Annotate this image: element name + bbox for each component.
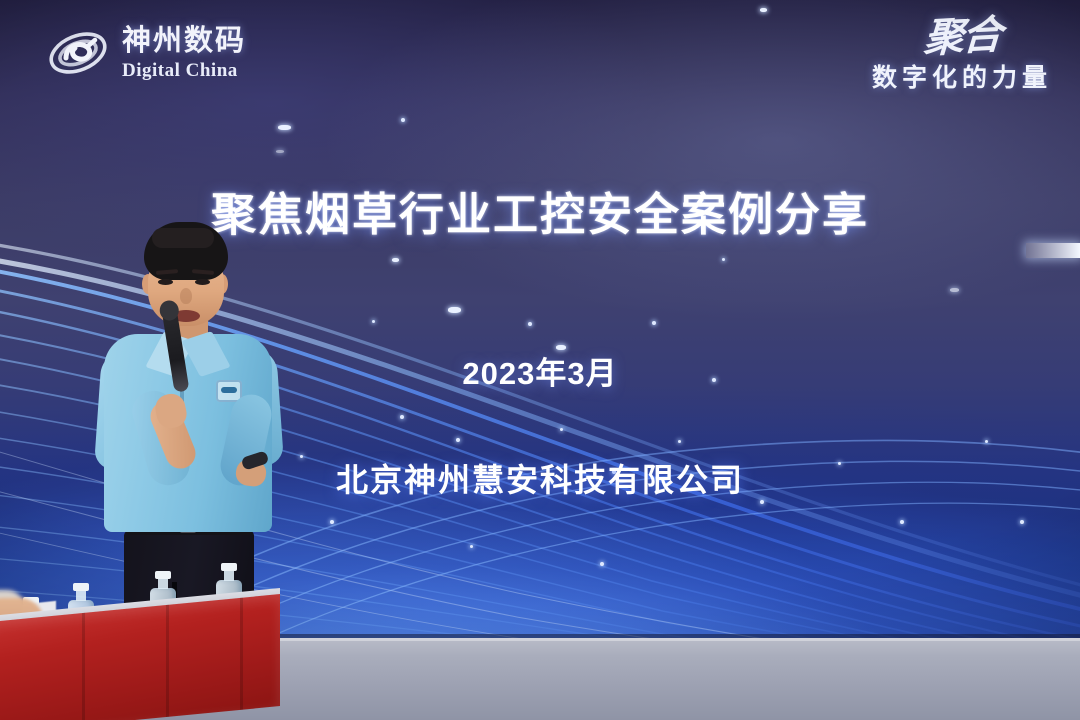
foreground-table <box>0 570 270 720</box>
speaker-left-eye <box>158 279 173 285</box>
speaker-nose <box>180 288 192 304</box>
conference-photo: 神州数码 Digital China 聚合 数字化的力量 聚焦烟草行业工控安全案… <box>0 0 1080 720</box>
speaker-right-eye <box>195 279 210 285</box>
